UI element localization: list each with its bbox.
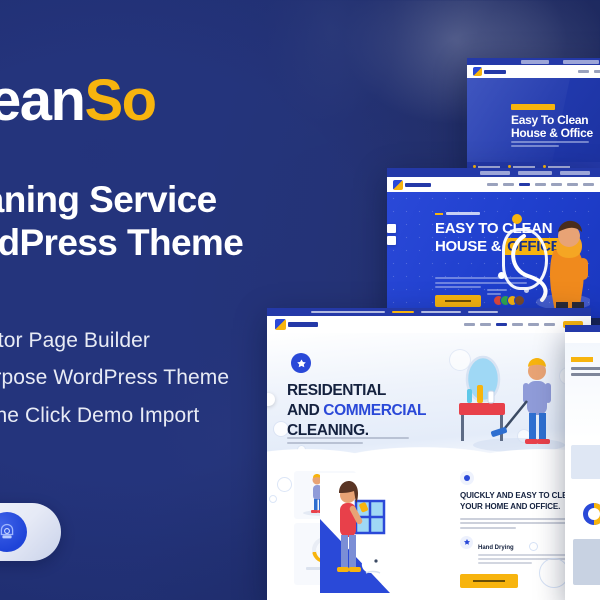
- mock4-topbar: [565, 325, 600, 332]
- mock2-cta-button[interactable]: [435, 295, 481, 307]
- mock1-topbar: [467, 58, 600, 65]
- mock3-about-headline: QUICKLY AND EASY TO CLEAN YOUR HOME AND …: [460, 491, 582, 513]
- mock4-hero: [565, 343, 600, 439]
- feature-item-0: Elementor Page Builder: [0, 322, 356, 359]
- mock1-headline-line-1: Easy To Clean: [511, 113, 588, 127]
- mock4-image-placeholder-1: [571, 445, 600, 479]
- mock2-topbar: [387, 168, 600, 177]
- feature-item-2: Easy One Click Demo Import: [0, 397, 356, 434]
- mockup-middle-right[interactable]: EASY TO CLEAN HOUSE & OFFICE.: [387, 168, 600, 318]
- mock3-about-paragraph: [460, 518, 582, 529]
- mock3-feature-title: Hand Drying: [478, 545, 514, 551]
- mock2-headline-line-2-plain: HOUSE &: [435, 238, 501, 255]
- mock2-hose-ring: [502, 228, 548, 290]
- mock1-headline-line-2: House & Office: [511, 126, 593, 140]
- mock3-menu[interactable]: [464, 323, 555, 326]
- mock1-subtext: [511, 141, 589, 149]
- mock1-headline: Easy To Clean House & Office: [511, 114, 593, 141]
- brand-wordmark: CleanSo: [0, 72, 156, 130]
- brand-name-yellow: So: [84, 72, 155, 130]
- feature-item-1: Multipurpose WordPress Theme: [0, 359, 356, 396]
- brand-name-white: Clean: [0, 72, 84, 130]
- mock4-progress-illustration: [579, 499, 600, 529]
- mock4-navbar[interactable]: [565, 332, 600, 343]
- mock1-topbar-text-b: [563, 60, 599, 64]
- mock2-logo[interactable]: [393, 180, 431, 190]
- headline-line-1: Cleaning Service: [0, 178, 358, 221]
- mock1-menu[interactable]: [578, 70, 600, 73]
- brand-badge-pill[interactable]: [0, 503, 61, 561]
- mock2-eyebrow: [435, 212, 480, 215]
- mock2-hero: EASY TO CLEAN HOUSE & OFFICE.: [387, 192, 600, 318]
- mock3-about-cta[interactable]: [460, 574, 518, 588]
- headline-line-2: WordPress Theme: [0, 221, 358, 264]
- mock1-navbar[interactable]: [467, 65, 600, 78]
- mockup-top-right[interactable]: Easy To Clean House & Office: [467, 58, 600, 176]
- feature-list: Elementor Page Builder Multipurpose Word…: [0, 322, 356, 434]
- hand-drying-icon: [460, 536, 473, 549]
- mock4-image-placeholder-2: [573, 539, 600, 585]
- mock2-navbar[interactable]: [387, 177, 600, 192]
- mock1-eyebrow-badge: [511, 104, 555, 110]
- woman-cleaning-window-illustration: [320, 473, 390, 593]
- mockup-far-right[interactable]: [565, 325, 600, 600]
- mock4-eyebrow-badge: [571, 357, 593, 362]
- mock1-topbar-text-a: [521, 60, 549, 64]
- mock4-body: [565, 439, 600, 600]
- page-title: Cleaning Service WordPress Theme: [0, 178, 358, 265]
- mock3-about-badge-icon: [460, 471, 474, 485]
- mock1-hero: Easy To Clean House & Office: [467, 78, 600, 162]
- mock2-side-controls[interactable]: [387, 224, 396, 245]
- mock1-logo[interactable]: [473, 67, 506, 76]
- cleanso-logo-icon: [0, 512, 27, 552]
- mock2-menu[interactable]: [487, 183, 594, 186]
